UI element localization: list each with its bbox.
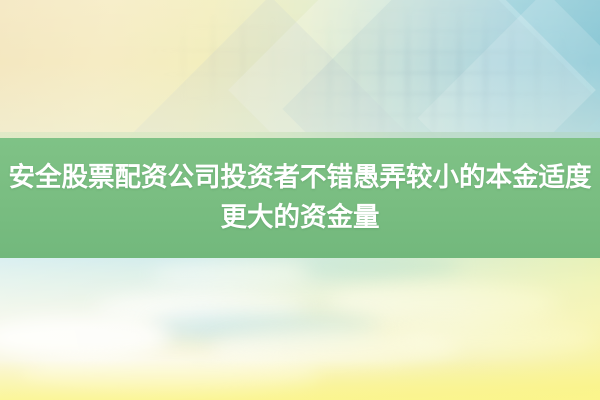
page-title-line-1: 安全股票配资公司投资者不错愚弄较小的本金适度: [0, 158, 600, 198]
top-band-overlay: [0, 0, 600, 140]
headline-band: 安全股票配资公司投资者不错愚弄较小的本金适度 更大的资金量: [0, 138, 600, 258]
page-title-line-2: 更大的资金量: [0, 198, 600, 238]
article-banner-image: 安全股票配资公司投资者不错愚弄较小的本金适度 更大的资金量: [0, 0, 600, 400]
sky-bottom-glow: [0, 360, 600, 400]
sky-clouds-band: [0, 258, 600, 400]
top-gradient-band: [0, 0, 600, 140]
